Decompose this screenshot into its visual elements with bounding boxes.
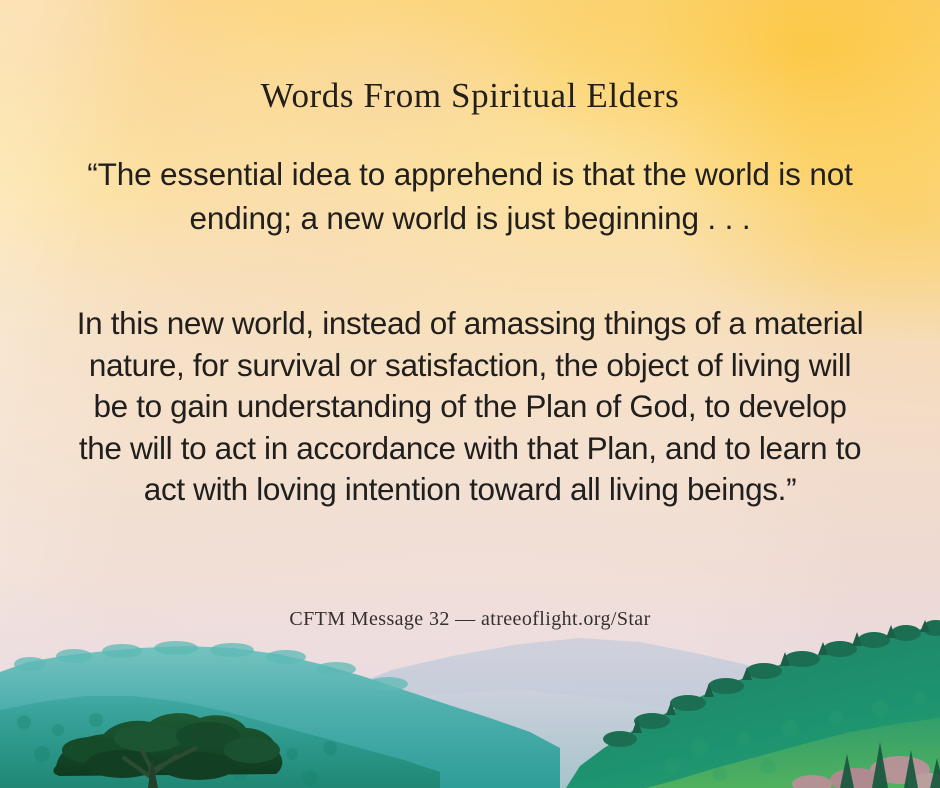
quote-card: Words From Spiritual Elders “The essenti…	[0, 0, 940, 788]
text-content: Words From Spiritual Elders “The essenti…	[0, 0, 940, 788]
page-title: Words From Spiritual Elders	[0, 76, 940, 116]
quote-paragraph-1: “The essential idea to apprehend is that…	[70, 152, 870, 240]
quote-paragraph-2: In this new world, instead of amassing t…	[70, 303, 870, 511]
attribution-line: CFTM Message 32 — atreeoflight.org/Star	[0, 608, 940, 631]
